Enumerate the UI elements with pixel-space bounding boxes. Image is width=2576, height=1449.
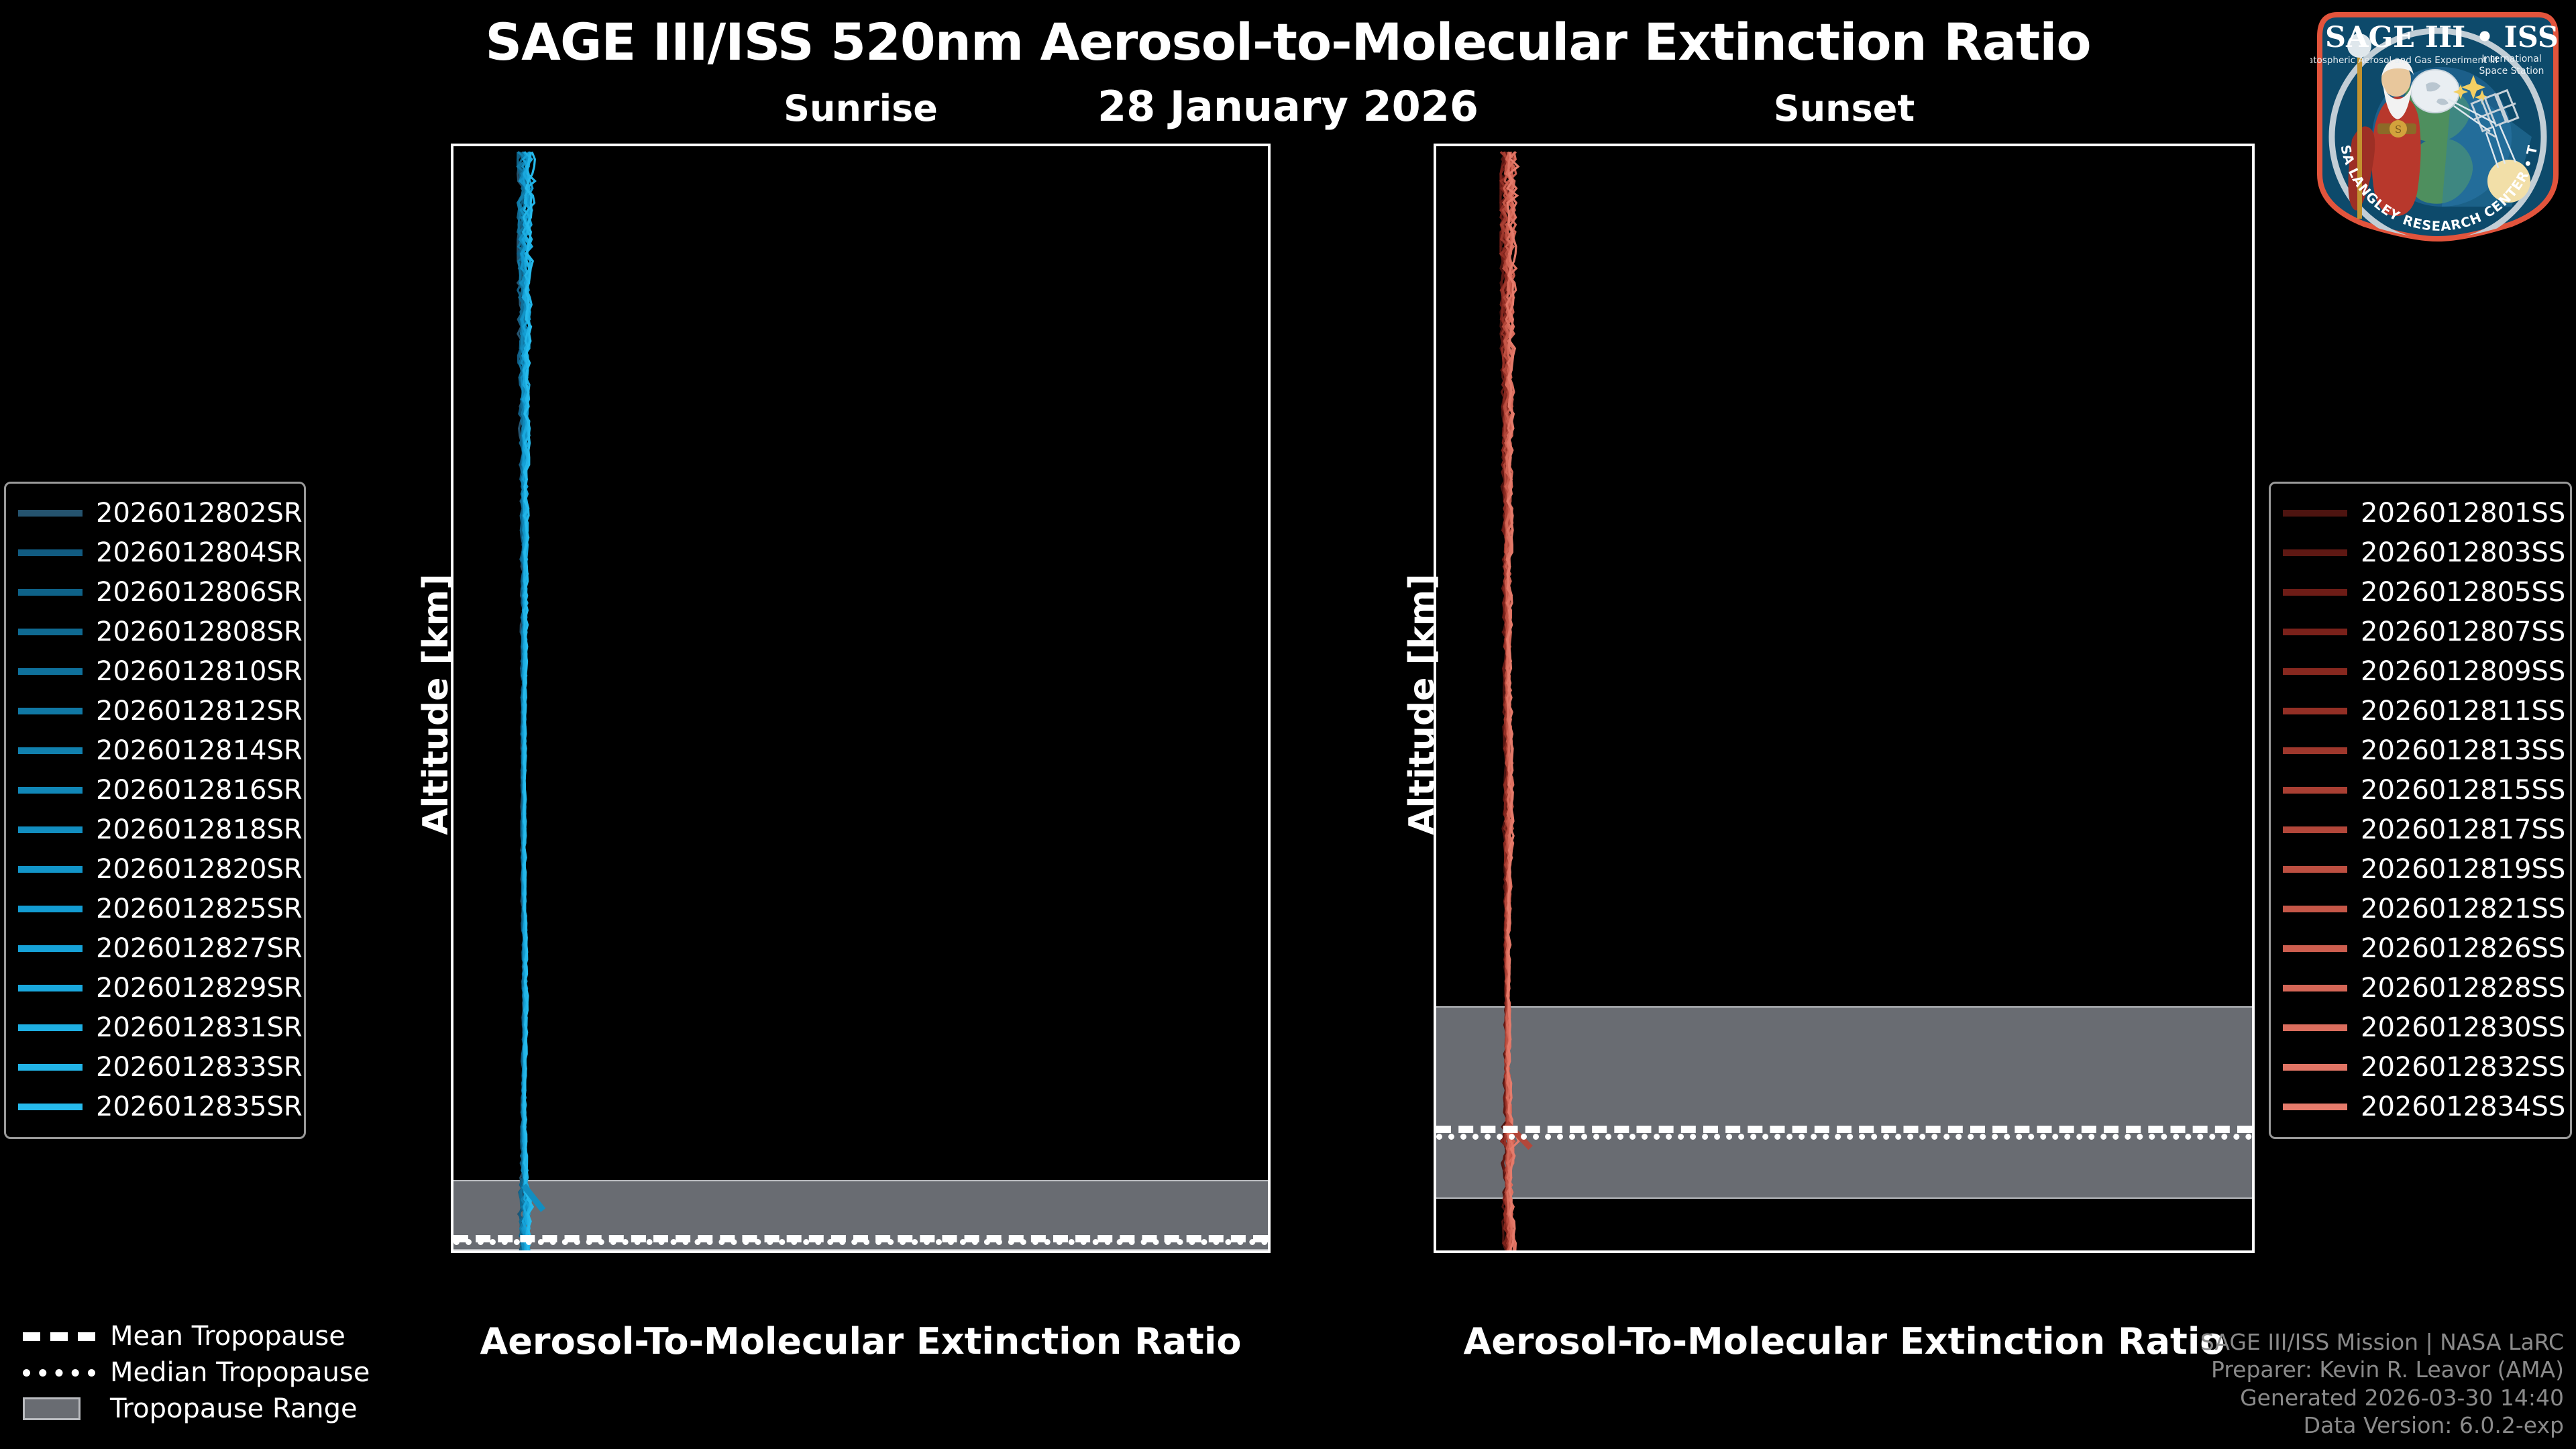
page-title: SAGE III/ISS 520nm Aerosol-to-Molecular …	[0, 12, 2576, 72]
legend-item[interactable]: 2026012807SS	[2283, 612, 2558, 651]
sunrise-legend-label: 2026012835SR	[96, 1091, 303, 1122]
legend-color-swatch-icon	[18, 629, 83, 635]
legend-item[interactable]: 2026012820SR	[18, 849, 292, 889]
sunset-legend-label: 2026012832SS	[2361, 1052, 2565, 1083]
x-axis-tick-mark	[1652, 1250, 1655, 1253]
sunrise-legend-label: 2026012829SR	[96, 973, 303, 1004]
x-axis-tick-mark	[818, 1250, 821, 1253]
legend-color-swatch-icon	[18, 510, 83, 517]
y-axis-tick-mark	[1434, 158, 1436, 160]
legend-item[interactable]: 2026012802SR	[18, 493, 292, 533]
legend-color-swatch-icon	[2283, 1064, 2347, 1071]
legend-item[interactable]: 2026012828SS	[2283, 968, 2558, 1008]
legend-color-swatch-icon	[2283, 708, 2347, 714]
legend-color-swatch-icon	[2283, 510, 2347, 517]
legend-item[interactable]: 2026012812SR	[18, 691, 292, 731]
legend-label-tropopause-range: Tropopause Range	[110, 1393, 358, 1424]
logo-subtitle-left: Stratospheric Aerosol and Gas Experiment…	[2310, 55, 2498, 66]
legend-color-swatch-icon	[18, 985, 83, 991]
x-axis-tick-mark	[1802, 1250, 1805, 1253]
legend-color-swatch-icon	[2283, 747, 2347, 754]
filled-band-icon	[23, 1397, 95, 1420]
legend-color-swatch-icon	[2283, 866, 2347, 873]
sunset-legend-label: 2026012819SS	[2361, 854, 2565, 885]
legend-color-swatch-icon	[18, 1064, 83, 1071]
x-axis-tick-mark	[1502, 1250, 1505, 1253]
legend-color-swatch-icon	[2283, 1024, 2347, 1031]
legend-color-swatch-icon	[18, 1024, 83, 1031]
sunset-legend-label: 2026012821SS	[2361, 894, 2565, 924]
legend-item[interactable]: 2026012815SS	[2283, 770, 2558, 810]
legend-color-swatch-icon	[2283, 985, 2347, 991]
legend-color-swatch-icon	[18, 549, 83, 556]
sunset-legend-label: 2026012805SS	[2361, 577, 2565, 608]
legend-color-swatch-icon	[18, 866, 83, 873]
sunset-legend-label: 2026012817SS	[2361, 814, 2565, 845]
legend-color-swatch-icon	[18, 589, 83, 596]
legend-item[interactable]: 2026012818SR	[18, 810, 292, 849]
legend-item[interactable]: 2026012817SS	[2283, 810, 2558, 849]
x-axis-label-left: Aerosol-To-Molecular Extinction Ratio	[451, 1320, 1271, 1362]
logo-title: SAGE III • ISS	[2325, 21, 2559, 54]
legend-item[interactable]: 2026012835SR	[18, 1087, 292, 1126]
legend-item[interactable]: 2026012809SS	[2283, 651, 2558, 691]
sunset-legend-label: 2026012815SS	[2361, 775, 2565, 806]
y-axis-tick-mark	[1434, 288, 1436, 290]
x-axis-tick-mark	[2101, 1250, 2104, 1253]
legend-label-mean-tropopause: Mean Tropopause	[110, 1321, 345, 1352]
credit-generated: Generated 2026-03-30 14:40	[2200, 1384, 2564, 1412]
y-axis-label-right: Altitude [km]	[1402, 574, 1442, 835]
plot-sunrise: 101520253035404550020406080100	[451, 144, 1271, 1253]
sunrise-legend-label: 2026012816SR	[96, 775, 303, 806]
sunrise-legend-label: 2026012820SR	[96, 854, 303, 885]
legend-item-mean-tropopause: Mean Tropopause	[5, 1318, 381, 1354]
legend-item-tropopause-range: Tropopause Range	[5, 1391, 381, 1427]
credit-preparer: Preparer: Kevin R. Leavor (AMA)	[2200, 1356, 2564, 1384]
sunset-legend-label: 2026012813SS	[2361, 735, 2565, 766]
legend-item[interactable]: 2026012805SS	[2283, 572, 2558, 612]
median-tropopause-line	[1436, 1134, 2252, 1140]
x-axis-tick-mark	[1951, 1250, 1954, 1253]
sunrise-legend-label: 2026012812SR	[96, 696, 303, 727]
legend-item[interactable]: 2026012831SR	[18, 1008, 292, 1047]
legend-color-swatch-icon	[18, 826, 83, 833]
legend-color-swatch-icon	[18, 906, 83, 912]
dashed-line-icon	[23, 1332, 95, 1341]
y-axis-label-left: Altitude [km]	[416, 574, 456, 835]
legend-sunrise: 2026012802SR2026012804SR2026012806SR2026…	[4, 482, 306, 1139]
legend-sunset: 2026012801SS2026012803SS2026012805SS2026…	[2269, 482, 2572, 1139]
legend-color-swatch-icon	[2283, 589, 2347, 596]
legend-item[interactable]: 2026012813SS	[2283, 731, 2558, 770]
plot-sunset: 101520253035404550020406080100	[1434, 144, 2255, 1253]
y-axis-tick-mark	[451, 418, 453, 421]
logo-subtitle-right-1: International	[2481, 54, 2541, 64]
legend-item[interactable]: 2026012830SS	[2283, 1008, 2558, 1047]
legend-color-swatch-icon	[18, 787, 83, 794]
legend-color-swatch-icon	[2283, 549, 2347, 556]
legend-color-swatch-icon	[18, 1104, 83, 1110]
legend-color-swatch-icon	[2283, 629, 2347, 635]
svg-text:S: S	[2395, 123, 2402, 136]
sunset-legend-label: 2026012830SS	[2361, 1012, 2565, 1043]
y-axis-tick-mark	[1434, 418, 1436, 421]
sunset-legend-label: 2026012809SS	[2361, 656, 2565, 687]
x-axis-tick-mark	[967, 1250, 970, 1253]
sunrise-legend-label: 2026012831SR	[96, 1012, 303, 1043]
legend-item[interactable]: 2026012833SR	[18, 1047, 292, 1087]
panel-title-sunset: Sunset	[1434, 87, 2255, 129]
panel-title-sunrise: Sunrise	[451, 87, 1271, 129]
legend-item-median-tropopause: Median Tropopause	[5, 1354, 381, 1391]
sunrise-legend-label: 2026012804SR	[96, 537, 303, 568]
median-tropopause-line	[453, 1239, 1268, 1245]
credits-block: SAGE III/ISS Mission | NASA LaRC Prepare…	[2200, 1328, 2564, 1440]
legend-label-median-tropopause: Median Tropopause	[110, 1357, 370, 1388]
y-axis-tick-mark	[451, 1067, 453, 1070]
x-axis-tick-mark	[669, 1250, 672, 1253]
sunset-legend-label: 2026012807SS	[2361, 616, 2565, 647]
sunset-legend-label: 2026012811SS	[2361, 696, 2565, 727]
legend-color-swatch-icon	[18, 668, 83, 675]
sunrise-legend-label: 2026012827SR	[96, 933, 303, 964]
sunrise-profile-lines	[453, 146, 1268, 1250]
legend-color-swatch-icon	[2283, 668, 2347, 675]
legend-item[interactable]: 2026012801SS	[2283, 493, 2558, 533]
sunrise-legend-label: 2026012833SR	[96, 1052, 303, 1083]
sunset-legend-label: 2026012828SS	[2361, 973, 2565, 1004]
sunset-legend-label: 2026012803SS	[2361, 537, 2565, 568]
legend-item[interactable]: 2026012834SS	[2283, 1087, 2558, 1126]
sunrise-legend-label: 2026012825SR	[96, 894, 303, 924]
legend-item[interactable]: 2026012806SR	[18, 572, 292, 612]
legend-item[interactable]: 2026012821SS	[2283, 889, 2558, 928]
y-axis-tick-mark	[1434, 1197, 1436, 1200]
legend-item[interactable]: 2026012811SS	[2283, 691, 2558, 731]
sunrise-legend-label: 2026012810SR	[96, 656, 303, 687]
legend-color-swatch-icon	[18, 708, 83, 714]
legend-item[interactable]: 2026012819SS	[2283, 849, 2558, 889]
sunrise-legend-label: 2026012814SR	[96, 735, 303, 766]
legend-item[interactable]: 2026012827SR	[18, 928, 292, 968]
legend-item[interactable]: 2026012825SR	[18, 889, 292, 928]
legend-item[interactable]: 2026012832SS	[2283, 1047, 2558, 1087]
sunrise-legend-label: 2026012802SR	[96, 498, 303, 529]
legend-item[interactable]: 2026012826SS	[2283, 928, 2558, 968]
sage-iii-iss-logo: S SAGE III • ISS Stratospheric Aerosol a…	[2310, 5, 2565, 241]
sunset-profile-lines	[1436, 146, 2252, 1250]
legend-item[interactable]: 2026012804SR	[18, 533, 292, 572]
x-axis-label-right: Aerosol-To-Molecular Extinction Ratio	[1434, 1320, 2255, 1362]
legend-color-swatch-icon	[2283, 906, 2347, 912]
legend-color-swatch-icon	[18, 945, 83, 952]
legend-item[interactable]: 2026012816SR	[18, 770, 292, 810]
sunset-legend-label: 2026012826SS	[2361, 933, 2565, 964]
y-axis-tick-mark	[451, 547, 453, 550]
sunrise-legend-label: 2026012808SR	[96, 616, 303, 647]
legend-color-swatch-icon	[2283, 945, 2347, 952]
credit-data-version: Data Version: 6.0.2-exp	[2200, 1411, 2564, 1440]
y-axis-tick-mark	[1434, 1067, 1436, 1070]
sunrise-legend-label: 2026012806SR	[96, 577, 303, 608]
legend-item[interactable]: 2026012810SR	[18, 651, 292, 691]
x-axis-tick-mark	[1117, 1250, 1120, 1253]
legend-item[interactable]: 2026012829SR	[18, 968, 292, 1008]
legend-item[interactable]: 2026012814SR	[18, 731, 292, 770]
x-axis-tick-mark	[519, 1250, 522, 1253]
y-axis-tick-mark	[1434, 937, 1436, 940]
sunset-legend-label: 2026012801SS	[2361, 498, 2565, 529]
dotted-line-icon	[23, 1369, 95, 1377]
legend-color-swatch-icon	[2283, 1104, 2347, 1110]
x-axis-tick-mark	[2251, 1250, 2253, 1253]
y-axis-tick-mark	[451, 1197, 453, 1200]
sunset-legend-label: 2026012834SS	[2361, 1091, 2565, 1122]
legend-color-swatch-icon	[2283, 787, 2347, 794]
legend-item[interactable]: 2026012808SR	[18, 612, 292, 651]
legend-color-swatch-icon	[18, 747, 83, 754]
tropopause-legend: Mean Tropopause Median Tropopause Tropop…	[5, 1318, 381, 1427]
credit-mission: SAGE III/ISS Mission | NASA LaRC	[2200, 1328, 2564, 1356]
legend-item[interactable]: 2026012803SS	[2283, 533, 2558, 572]
sunrise-legend-label: 2026012818SR	[96, 814, 303, 845]
y-axis-tick-mark	[451, 937, 453, 940]
mean-tropopause-line	[1436, 1126, 2252, 1133]
y-axis-tick-mark	[451, 288, 453, 290]
x-axis-tick-mark	[1267, 1250, 1269, 1253]
logo-subtitle-right-2: Space Station	[2479, 66, 2544, 76]
y-axis-tick-mark	[451, 158, 453, 160]
legend-color-swatch-icon	[2283, 826, 2347, 833]
y-axis-tick-mark	[1434, 547, 1436, 550]
